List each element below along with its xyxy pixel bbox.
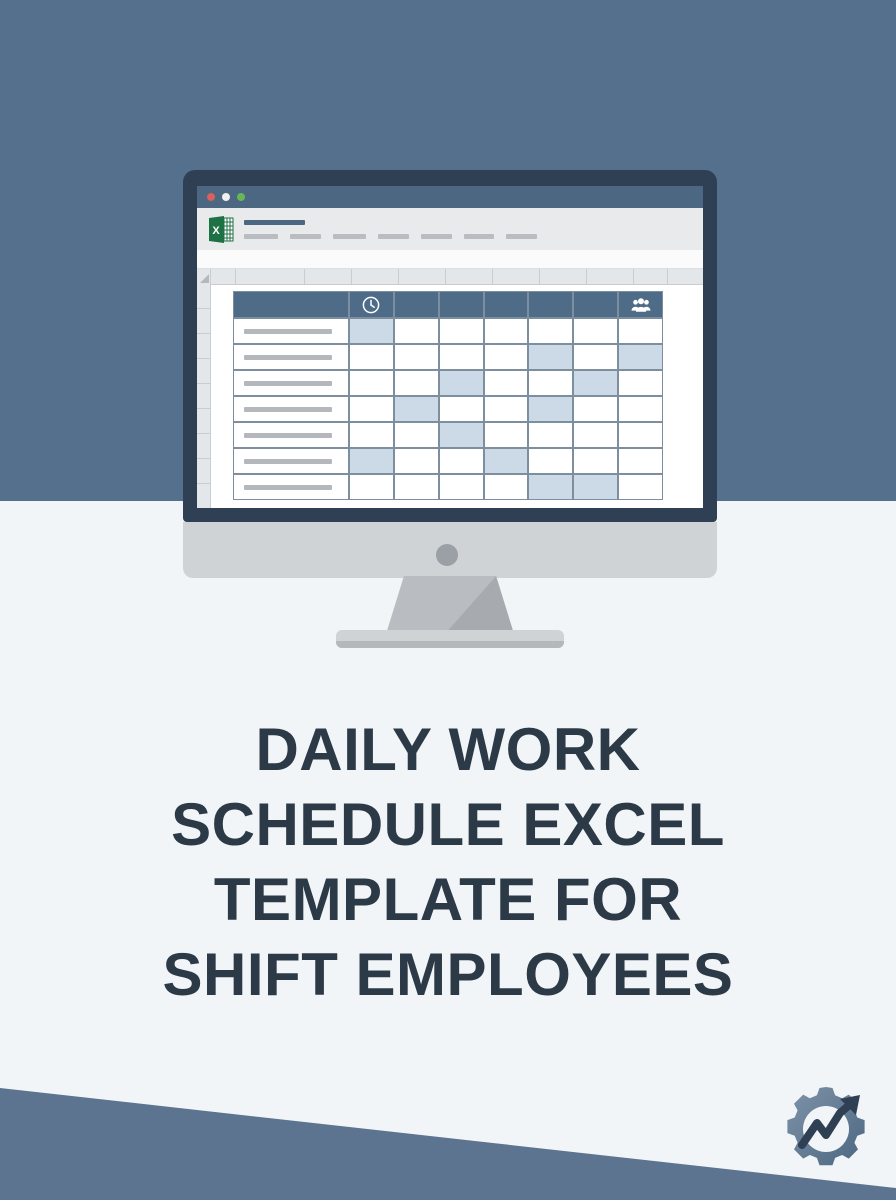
shift-cell-empty[interactable] [439,344,484,370]
window-controls [207,193,245,201]
shift-cell-empty[interactable] [484,344,529,370]
shift-cell-empty[interactable] [484,396,529,422]
shift-cell-empty[interactable] [439,474,484,500]
row-header-strip [197,284,211,508]
column-header-a[interactable] [211,269,236,284]
shift-cell-assigned[interactable] [618,344,663,370]
shift-col-4-header [484,291,529,318]
shift-cell-empty[interactable] [484,474,529,500]
shift-cell-empty[interactable] [618,396,663,422]
shift-cell-empty[interactable] [573,344,618,370]
ribbon-menu-item-5[interactable] [421,234,452,239]
shift-cell-empty[interactable] [349,370,394,396]
column-header-i[interactable] [587,269,634,284]
document-title-placeholder [244,220,305,225]
shift-col-1-header [349,291,394,318]
table-row [233,448,663,474]
monitor-chin [183,522,717,578]
ribbon-menu-placeholders[interactable] [244,234,537,239]
page-title: DAILY WORK SCHEDULE EXCEL TEMPLATE FOR S… [0,712,896,1012]
schedule-header-row [233,291,663,318]
column-header-row [197,269,703,285]
employee-name-cell[interactable] [233,370,349,396]
row-header-cell[interactable] [197,359,210,384]
employee-name-placeholder [244,355,332,360]
ribbon-menu-item-4[interactable] [378,234,409,239]
column-header-d[interactable] [352,269,399,284]
clock-icon [361,295,381,315]
shift-cell-empty[interactable] [349,474,394,500]
shift-cell-assigned[interactable] [528,344,573,370]
ribbon-menu-item-1[interactable] [244,234,278,239]
shift-cell-assigned[interactable] [349,448,394,474]
column-header-h[interactable] [540,269,587,284]
shift-cell-empty[interactable] [394,422,439,448]
shift-cell-empty[interactable] [439,396,484,422]
ribbon-menu-item-3[interactable] [333,234,366,239]
shift-cell-assigned[interactable] [484,448,529,474]
window-titlebar [197,186,703,208]
close-dot-icon[interactable] [207,193,215,201]
maximize-dot-icon[interactable] [237,193,245,201]
shift-cell-empty[interactable] [528,448,573,474]
column-header-g[interactable] [493,269,540,284]
gear-growth-arrow-logo [776,1079,876,1179]
column-header-b[interactable] [236,269,305,284]
row-header-cell[interactable] [197,309,210,334]
shift-col-3-header [439,291,484,318]
shift-cell-empty[interactable] [528,370,573,396]
page-title-line-3: TEMPLATE FOR [0,862,896,937]
ribbon-menu-item-7[interactable] [506,234,537,239]
shift-cell-empty[interactable] [573,448,618,474]
page-title-line-1: DAILY WORK [0,712,896,787]
shift-cell-assigned[interactable] [573,370,618,396]
table-row [233,318,663,344]
shift-cell-empty[interactable] [394,344,439,370]
shift-cell-empty[interactable] [528,318,573,344]
row-header-cell[interactable] [197,384,210,409]
shift-cell-empty[interactable] [573,318,618,344]
shift-cell-empty[interactable] [618,474,663,500]
employee-name-placeholder [244,329,332,334]
shift-cell-empty[interactable] [394,448,439,474]
column-header-e[interactable] [399,269,446,284]
employee-name-placeholder [244,407,332,412]
shift-cell-empty[interactable] [573,422,618,448]
row-header-cell[interactable] [197,334,210,359]
row-header-cell[interactable] [197,459,210,484]
shift-cell-empty[interactable] [573,396,618,422]
shift-col-5-header [528,291,573,318]
employee-name-placeholder [244,459,332,464]
desktop-monitor: X [183,170,717,630]
ribbon-menu-item-2[interactable] [290,234,321,239]
shift-cell-empty[interactable] [618,318,663,344]
shift-cell-empty[interactable] [618,370,663,396]
ribbon-menu-item-6[interactable] [464,234,494,239]
table-row [233,422,663,448]
schedule-body [233,318,663,500]
shift-cell-empty[interactable] [439,318,484,344]
shift-cell-empty[interactable] [349,344,394,370]
shift-cell-assigned[interactable] [439,422,484,448]
employee-name-cell[interactable] [233,448,349,474]
column-header-c[interactable] [305,269,352,284]
table-row [233,370,663,396]
shift-cell-assigned[interactable] [439,370,484,396]
excel-icon-letter: X [212,225,220,237]
employee-name-header [233,291,349,318]
row-header-cell[interactable] [197,434,210,459]
row-header-cell[interactable] [197,284,210,309]
employee-name-placeholder [244,485,332,490]
table-row [233,396,663,422]
shift-cell-empty[interactable] [394,474,439,500]
shift-cell-empty[interactable] [484,318,529,344]
shift-col-2-header [394,291,439,318]
shift-cell-empty[interactable] [618,448,663,474]
shift-cell-empty[interactable] [349,396,394,422]
employee-name-cell[interactable] [233,318,349,344]
shift-cell-assigned[interactable] [349,318,394,344]
formula-bar[interactable] [197,250,703,269]
employee-name-cell[interactable] [233,422,349,448]
shift-col-6-header [573,291,618,318]
people-group-icon [631,295,651,315]
poster-canvas: X [0,0,896,1200]
employee-name-cell[interactable] [233,344,349,370]
shift-cell-empty[interactable] [484,370,529,396]
column-header-j[interactable] [634,269,668,284]
shift-schedule-table [233,291,663,500]
shift-cell-empty[interactable] [394,318,439,344]
table-row [233,344,663,370]
excel-ribbon: X [197,208,703,250]
row-header-cell[interactable] [197,409,210,434]
column-header-f[interactable] [446,269,493,284]
employee-name-placeholder [244,433,332,438]
shift-col-7-header [618,291,663,318]
shift-cell-assigned[interactable] [528,396,573,422]
row-header-cell[interactable] [197,484,210,508]
shift-cell-assigned[interactable] [528,474,573,500]
page-title-line-2: SCHEDULE EXCEL [0,787,896,862]
monitor-bezel: X [183,170,717,522]
monitor-power-indicator-icon [436,544,458,566]
monitor-screen: X [197,186,703,508]
select-all-triangle-icon[interactable] [197,269,210,284]
minimize-dot-icon[interactable] [222,193,230,201]
monitor-base-shadow [336,641,564,648]
shift-cell-empty[interactable] [484,422,529,448]
employee-name-placeholder [244,381,332,386]
page-title-line-4: SHIFT EMPLOYEES [0,937,896,1012]
shift-cell-empty[interactable] [439,448,484,474]
shift-cell-empty[interactable] [349,422,394,448]
shift-cell-empty[interactable] [528,422,573,448]
employee-name-cell[interactable] [233,396,349,422]
shift-cell-assigned[interactable] [394,396,439,422]
spreadsheet-grid [197,269,703,508]
shift-cell-empty[interactable] [618,422,663,448]
employee-name-cell[interactable] [233,474,349,500]
excel-icon: X [207,215,235,244]
shift-cell-assigned[interactable] [573,474,618,500]
table-row [233,474,663,500]
shift-cell-empty[interactable] [394,370,439,396]
